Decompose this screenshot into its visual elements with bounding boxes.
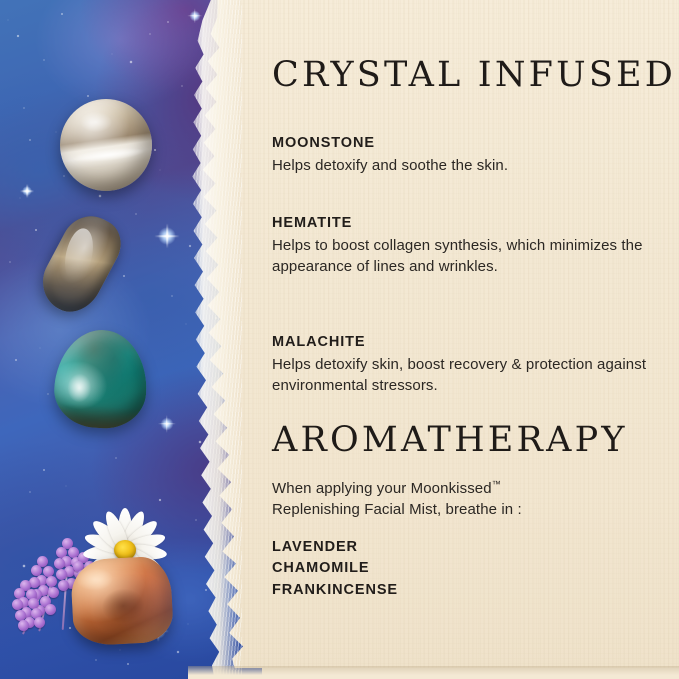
trademark-symbol: ™ (492, 479, 501, 489)
crystal-item-malachite: MALACHITE Helps detoxify skin, boost rec… (272, 332, 647, 396)
bright-star-icon (158, 227, 176, 245)
crystal-description-hematite: Helps to boost collagen synthesis, which… (272, 235, 647, 278)
aromatherapy-heading: AROMATHERAPY (272, 420, 628, 460)
bright-star-icon (189, 10, 200, 21)
aromatherapy-intro-line-2: Replenishing Facial Mist, breathe in : (272, 499, 647, 520)
moonstone-sphere (60, 99, 152, 191)
oil-chamomile: CHAMOMILE (272, 558, 647, 579)
bright-star-icon (150, 623, 166, 639)
oil-lavender: LAVENDER (272, 537, 647, 558)
frankincense-resin (70, 555, 174, 646)
crystal-name-hematite: HEMATITE (272, 213, 647, 235)
crystal-name-malachite: MALACHITE (272, 332, 647, 354)
aromatherapy-intro-line-1: When applying your Moonkissed™ (272, 478, 647, 499)
chamomile-flower (72, 505, 178, 595)
lavender-sprig (18, 530, 114, 640)
crystal-infused-heading: CRYSTAL INFUSED (272, 55, 676, 95)
aromatherapy-oil-list: LAVENDER CHAMOMILE FRANKINCENSE (272, 537, 647, 601)
product-info-graphic: CRYSTAL INFUSED MOONSTONE Helps detoxify… (0, 0, 679, 679)
hematite-stone (32, 206, 130, 322)
crystal-item-hematite: HEMATITE Helps to boost collagen synthes… (272, 213, 647, 277)
malachite-stone (52, 327, 151, 431)
crystal-description-malachite: Helps detoxify skin, boost recovery & pr… (272, 354, 647, 397)
oil-frankincense: FRANKINCENSE (272, 580, 647, 601)
aromatherapy-intro-text-1: When applying your Moonkissed (272, 480, 492, 497)
content-column: CRYSTAL INFUSED MOONSTONE Helps detoxify… (272, 0, 652, 679)
botanicals-group (0, 470, 262, 679)
bright-star-icon (160, 417, 173, 430)
crystal-description-moonstone: Helps detoxify and soothe the skin. (272, 155, 647, 176)
crystal-name-moonstone: MOONSTONE (272, 133, 647, 155)
bright-star-icon (22, 186, 32, 196)
aromatherapy-intro: When applying your Moonkissed™ Replenish… (272, 478, 647, 521)
crystal-item-moonstone: MOONSTONE Helps detoxify and soothe the … (272, 133, 647, 176)
